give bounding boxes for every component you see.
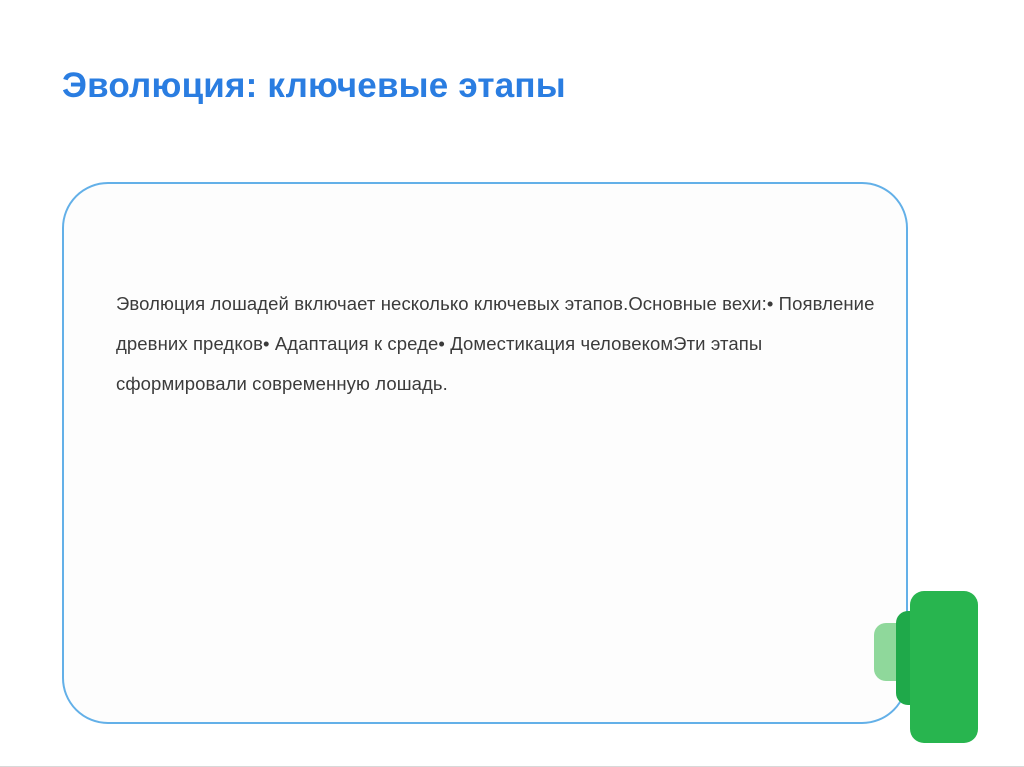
decorative-shape-green	[910, 591, 978, 743]
page-title: Эволюция: ключевые этапы	[62, 65, 962, 107]
content-card	[62, 182, 908, 724]
slide: Эволюция: ключевые этапы Эволюция лошаде…	[0, 0, 1024, 767]
body-text: Эволюция лошадей включает несколько ключ…	[116, 284, 876, 404]
